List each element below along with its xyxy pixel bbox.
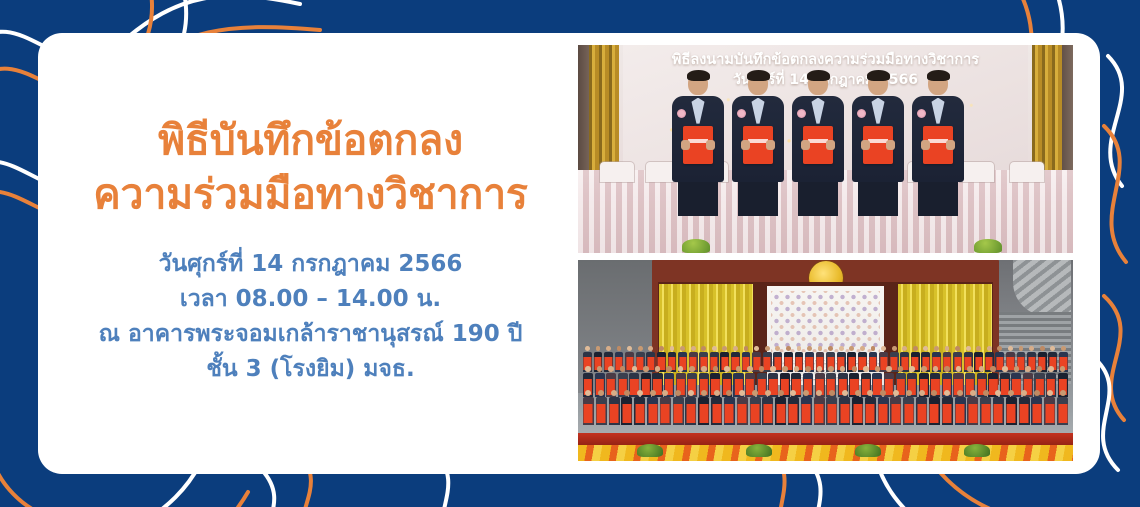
attendee-head (957, 390, 963, 396)
person-head (808, 72, 828, 95)
attendee-head (1008, 390, 1014, 396)
person-hand (886, 140, 895, 150)
decorative-plant (855, 444, 881, 457)
person-suit (912, 96, 964, 182)
attendee-head (983, 390, 989, 396)
attendee-head (782, 366, 788, 372)
attendee-figure (775, 390, 786, 425)
attendee-figure (685, 390, 696, 425)
attendee-head (875, 366, 881, 372)
corsage-flower (677, 109, 686, 118)
person-shirt (812, 98, 825, 124)
attendee-head (881, 346, 886, 351)
person-head (928, 72, 948, 95)
attendee-head (976, 346, 981, 351)
person-hand (741, 140, 750, 150)
attendee-head (726, 390, 732, 396)
person-head (748, 72, 768, 95)
attendee-head (713, 366, 719, 372)
attendee-head (816, 390, 822, 396)
attendee-torso (634, 397, 645, 425)
attendee-head (689, 366, 695, 372)
attendee-head (944, 366, 950, 372)
attendee-head (624, 390, 630, 396)
attendee-head (666, 366, 672, 372)
attendee-head (648, 346, 653, 351)
attendee-head (828, 346, 833, 351)
attendee-torso (890, 397, 901, 425)
attendee-head (840, 366, 846, 372)
attendee-head (797, 346, 802, 351)
attendee-head (712, 346, 717, 351)
logo-grid (771, 291, 881, 352)
attendee-torso (1031, 397, 1042, 425)
attendee-head (944, 390, 950, 396)
attendee-head (596, 346, 601, 351)
attendee-head (722, 346, 727, 351)
attendee-figure (890, 390, 901, 425)
person-head (688, 72, 708, 95)
group-photo: พิธีลงนามบันทึกข้อตกลงความร่วมมือทางวิชา… (578, 260, 1073, 461)
mou-folder (943, 404, 952, 423)
attendee-head (818, 346, 823, 351)
mou-folder (776, 404, 785, 423)
person-hand (706, 140, 715, 150)
attendee-torso (903, 397, 914, 425)
attendee-head (675, 390, 681, 396)
attendee-torso (609, 397, 620, 425)
attendee-head (829, 390, 835, 396)
attendee-figure (967, 390, 978, 425)
person-hair (927, 70, 950, 81)
attendee-head (817, 366, 823, 372)
attendee-head (662, 390, 668, 396)
attendee-head (1061, 346, 1066, 351)
attendee-head (893, 390, 899, 396)
attendee-head (933, 366, 939, 372)
attendee-torso (1006, 397, 1017, 425)
decorative-plant (637, 444, 663, 457)
mou-folder (763, 404, 772, 423)
attendee-torso (967, 397, 978, 425)
event-poster: พิธีบันทึกข้อตกลง ความร่วมมือทางวิชาการ … (0, 0, 1140, 507)
mou-folder (815, 404, 824, 423)
attendee-head (1034, 390, 1040, 396)
attendee-head (863, 366, 869, 372)
person-figure (910, 72, 966, 216)
person-head (868, 72, 888, 95)
attendee-torso (878, 397, 889, 425)
attendee-head (955, 346, 960, 351)
mou-folder (904, 404, 913, 423)
mou-folder (879, 404, 888, 423)
attendee-torso (788, 397, 799, 425)
attendee-head (871, 346, 876, 351)
detail-time: เวลา 08.00 – 14.00 น. (99, 282, 523, 317)
attendee-head (608, 366, 614, 372)
attendee-figure (1044, 390, 1055, 425)
attendee-head (997, 346, 1002, 351)
mou-folder (699, 404, 708, 423)
mou-folder (853, 404, 862, 423)
attendee-torso (814, 397, 825, 425)
attendee-head (606, 346, 611, 351)
attendee-torso (596, 397, 607, 425)
attendee-figure (596, 390, 607, 425)
attendee-torso (685, 397, 696, 425)
attendee-head (1029, 346, 1034, 351)
person-hand (921, 140, 930, 150)
attendee-head (867, 390, 873, 396)
person-suit (852, 96, 904, 182)
mou-folder (610, 404, 619, 423)
attendee-head (701, 346, 706, 351)
mou-folder (661, 404, 670, 423)
corsage-flower (737, 109, 746, 118)
attendee-torso (660, 397, 671, 425)
decorative-plant (974, 239, 1002, 253)
decorative-plant (746, 444, 772, 457)
attendee-head (886, 366, 892, 372)
person-legs (918, 182, 958, 216)
attendee-head (714, 390, 720, 396)
photo-column: พิธีลงนามบันทึกข้อตกลงความร่วมมือทางวิชา… (578, 33, 1100, 474)
person-hand (861, 140, 870, 150)
mou-folder (738, 404, 747, 423)
attendee-figure (724, 390, 735, 425)
attendee-head (688, 390, 694, 396)
attendee-torso (737, 397, 748, 425)
attendee-torso (711, 397, 722, 425)
person-hand (801, 140, 810, 150)
attendee-head (852, 366, 858, 372)
attendee-torso (724, 397, 735, 425)
attendee-head (807, 346, 812, 351)
attendee-torso (839, 397, 850, 425)
decorative-plant (682, 239, 710, 253)
detail-floor: ชั้น 3 (โรงยิม) มจธ. (99, 352, 523, 387)
attendee-head (778, 390, 784, 396)
person-figure (790, 72, 846, 216)
attendee-figure (634, 390, 645, 425)
attendee-figure (878, 390, 889, 425)
mou-folder (648, 404, 657, 423)
attendee-torso (1019, 397, 1030, 425)
attendee-head (585, 366, 591, 372)
attendee-figure (737, 390, 748, 425)
attendee-head (736, 366, 742, 372)
person-hair (747, 70, 770, 81)
attendee-head (987, 346, 992, 351)
mou-folder (1032, 404, 1041, 423)
person-hair (807, 70, 830, 81)
mou-folder (827, 404, 836, 423)
attendee-head (855, 390, 861, 396)
mou-folder (981, 404, 990, 423)
attendee-head (970, 390, 976, 396)
attendee-head (733, 346, 738, 351)
attendee-head (637, 390, 643, 396)
crowd-row (583, 390, 1068, 425)
attendee-head (680, 346, 685, 351)
attendee-head (701, 366, 707, 372)
attendee-head (995, 390, 1001, 396)
attendee-head (956, 366, 962, 372)
mou-folder (622, 404, 631, 423)
mou-folder (994, 404, 1003, 423)
mou-folder (1058, 404, 1067, 423)
mou-folder (1007, 404, 1016, 423)
attendee-figure (993, 390, 1004, 425)
attendee-figure (929, 390, 940, 425)
attendee-torso (865, 397, 876, 425)
attendee-head (934, 346, 939, 351)
attendee-head (1048, 366, 1054, 372)
person-hand (826, 140, 835, 150)
attendee-head (585, 390, 591, 396)
attendee-head (794, 366, 800, 372)
attendee-figure (942, 390, 953, 425)
attendee-head (913, 346, 918, 351)
person-hand (681, 140, 690, 150)
page-title: พิธีบันทึกข้อตกลง ความร่วมมือทางวิชาการ (93, 114, 527, 221)
attendee-head (1047, 390, 1053, 396)
attendee-head (892, 346, 897, 351)
screen-caption-line-1: พิธีลงนามบันทึกข้อตกลงความร่วมมือทางวิชา… (623, 51, 1029, 70)
chair-back (1010, 162, 1044, 182)
attendee-head (775, 346, 780, 351)
attendee-head (1008, 346, 1013, 351)
attendee-head (585, 346, 590, 351)
attendee-head (1019, 346, 1024, 351)
attendee-figure (852, 390, 863, 425)
decorative-plant (964, 444, 990, 457)
attendee-figure (1019, 390, 1030, 425)
attendee-head (1025, 366, 1031, 372)
attendee-head (921, 366, 927, 372)
attendee-head (691, 346, 696, 351)
attendee-torso (1057, 397, 1068, 425)
mou-folder (866, 404, 875, 423)
attendee-figure (916, 390, 927, 425)
attendee-figure (1006, 390, 1017, 425)
attendee-torso (929, 397, 940, 425)
title-line-1: พิธีบันทึกข้อตกลง (93, 114, 527, 167)
mou-folder (751, 404, 760, 423)
attendee-head (805, 366, 811, 372)
attendee-head (919, 390, 925, 396)
attendee-head (990, 366, 996, 372)
attendee-head (1014, 366, 1020, 372)
detail-venue: ณ อาคารพระจอมเกล้าราชานุสรณ์ 190 ปี (99, 317, 523, 352)
attendee-figure (647, 390, 658, 425)
attendee-head (1060, 390, 1066, 396)
attendee-head (632, 366, 638, 372)
attendee-head (739, 390, 745, 396)
mou-folder (674, 404, 683, 423)
person-hair (687, 70, 710, 81)
event-details: วันศุกร์ที่ 14 กรกฎาคม 2566 เวลา 08.00 –… (99, 247, 523, 387)
person-hair (867, 70, 890, 81)
attendee-head (790, 390, 796, 396)
attendee-figure (814, 390, 825, 425)
attendee-torso (621, 397, 632, 425)
attendee-torso (801, 397, 812, 425)
attendee-head (967, 366, 973, 372)
mou-folder (891, 404, 900, 423)
attendee-head (744, 346, 749, 351)
mou-folder (930, 404, 939, 423)
attendee-head (923, 346, 928, 351)
attendee-figure (698, 390, 709, 425)
attendee-head (828, 366, 834, 372)
detail-date: วันศุกร์ที่ 14 กรกฎาคม 2566 (99, 247, 523, 282)
mou-folder (968, 404, 977, 423)
attendee-torso (673, 397, 684, 425)
attendee-head (880, 390, 886, 396)
attendee-figure (609, 390, 620, 425)
attendee-head (906, 390, 912, 396)
attendee-torso (980, 397, 991, 425)
attendee-head (598, 390, 604, 396)
attendee-figure (865, 390, 876, 425)
attendee-head (898, 366, 904, 372)
attendee-head (747, 366, 753, 372)
person-hand (766, 140, 775, 150)
attendee-torso (826, 397, 837, 425)
attendee-figure (955, 390, 966, 425)
attendee-head (1060, 366, 1066, 372)
attendee-head (643, 366, 649, 372)
attendee-head (611, 390, 617, 396)
mou-folder (789, 404, 798, 423)
attendee-head (670, 346, 675, 351)
attendee-figure (583, 390, 594, 425)
person-figure (850, 72, 906, 216)
attendee-head (597, 366, 603, 372)
attendee-head (860, 346, 865, 351)
attendee-figure (750, 390, 761, 425)
mou-folder (1020, 404, 1029, 423)
corsage-flower (797, 109, 806, 118)
attendee-head (945, 346, 950, 351)
corsage-flower (857, 109, 866, 118)
attendee-head (765, 346, 770, 351)
attendee-head (842, 390, 848, 396)
attendee-head (909, 366, 915, 372)
attendee-torso (775, 397, 786, 425)
attendee-head (617, 346, 622, 351)
person-legs (738, 182, 778, 216)
person-suit (732, 96, 784, 182)
attendee-figure (762, 390, 773, 425)
attendee-head (759, 366, 765, 372)
mou-folder (802, 404, 811, 423)
attendee-torso (762, 397, 773, 425)
attendee-head (849, 346, 854, 351)
attendee-head (678, 366, 684, 372)
attendee-figure (980, 390, 991, 425)
mou-folder (917, 404, 926, 423)
attendee-torso (916, 397, 927, 425)
attendee-torso (698, 397, 709, 425)
person-shirt (692, 98, 705, 124)
attendee-head (701, 390, 707, 396)
person-shirt (752, 98, 765, 124)
attendee-head (1040, 346, 1045, 351)
mou-folder (956, 404, 965, 423)
attendee-torso (942, 397, 953, 425)
attendee-head (655, 366, 661, 372)
mou-folder (597, 404, 606, 423)
person-suit (792, 96, 844, 182)
person-legs (858, 182, 898, 216)
attendee-figure (826, 390, 837, 425)
text-column: พิธีบันทึกข้อตกลง ความร่วมมือทางวิชาการ … (38, 33, 583, 474)
attendee-figure (673, 390, 684, 425)
signing-ceremony-photo: พิธีลงนามบันทึกข้อตกลงความร่วมมือทางวิชา… (578, 45, 1073, 253)
mou-folder (584, 404, 593, 423)
attendee-head (786, 346, 791, 351)
attendee-torso (583, 397, 594, 425)
attendee-crowd (583, 346, 1068, 434)
attendee-head (803, 390, 809, 396)
attendee-head (1021, 390, 1027, 396)
attendee-figure (839, 390, 850, 425)
person-figure (730, 72, 786, 216)
attendee-head (966, 346, 971, 351)
attendee-torso (955, 397, 966, 425)
attendee-figure (711, 390, 722, 425)
attendee-head (765, 390, 771, 396)
mou-folder (1045, 404, 1054, 423)
attendee-head (724, 366, 730, 372)
person-shirt (932, 98, 945, 124)
attendee-figure (903, 390, 914, 425)
attendee-head (1050, 346, 1055, 351)
mou-folder (840, 404, 849, 423)
attendee-head (620, 366, 626, 372)
attendee-figure (660, 390, 671, 425)
attendee-head (659, 346, 664, 351)
person-suit (672, 96, 724, 182)
attendee-torso (852, 397, 863, 425)
person-figure (670, 72, 726, 216)
attendee-head (839, 346, 844, 351)
attendee-head (650, 390, 656, 396)
mou-folder (635, 404, 644, 423)
attendee-head (752, 390, 758, 396)
person-hand (946, 140, 955, 150)
attendee-torso (750, 397, 761, 425)
title-line-2: ความร่วมมือทางวิชาการ (93, 168, 527, 221)
person-shirt (872, 98, 885, 124)
attendee-figure (788, 390, 799, 425)
person-legs (678, 182, 718, 216)
attendee-head (1037, 366, 1043, 372)
attendee-figure (621, 390, 632, 425)
chair-back (600, 162, 634, 182)
attendee-torso (1044, 397, 1055, 425)
attendee-figure (1031, 390, 1042, 425)
corsage-flower (917, 109, 926, 118)
attendee-torso (647, 397, 658, 425)
mou-folder (686, 404, 695, 423)
attendee-head (627, 346, 632, 351)
attendee-figure (801, 390, 812, 425)
attendee-head (638, 346, 643, 351)
attendee-head (902, 346, 907, 351)
